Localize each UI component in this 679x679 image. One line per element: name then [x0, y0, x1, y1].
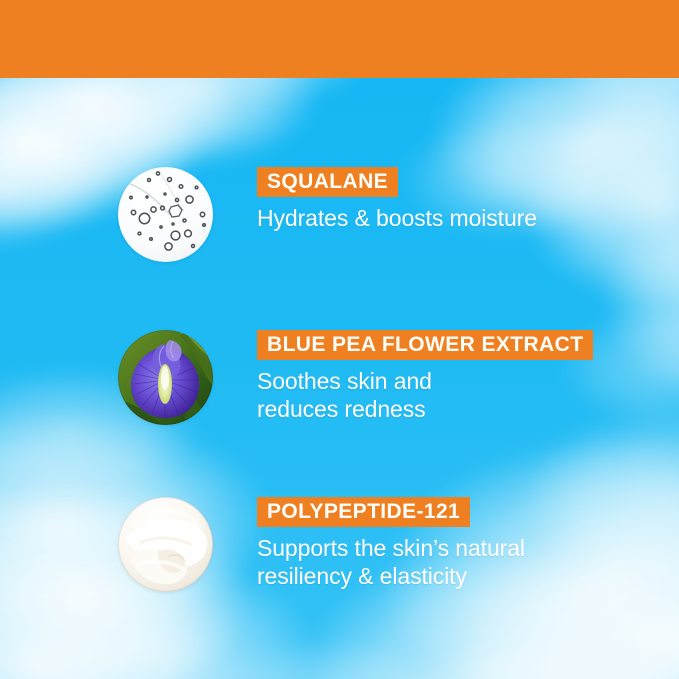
- clear-gel-bubbles-swatch: [118, 167, 213, 262]
- cloud-shape: [520, 408, 679, 588]
- cloud-shape: [560, 78, 679, 158]
- ingredient-text: BLUE PEA FLOWER EXTRACT Soothes skin and…: [257, 330, 593, 423]
- ingredient-text: POLYPEPTIDE-121 Supports the skin’s natu…: [257, 497, 525, 590]
- ingredient-name-badge: POLYPEPTIDE-121: [257, 497, 470, 527]
- cloud-shape: [60, 78, 320, 168]
- ingredient-description: Supports the skin’s natural resiliency &…: [257, 534, 525, 590]
- ingredient-name-badge: SQUALANE: [257, 167, 398, 197]
- white-cream-swirl-swatch: [118, 497, 213, 592]
- blue-pea-flower-photo: [118, 330, 213, 425]
- ingredient-name-badge: BLUE PEA FLOWER EXTRACT: [257, 330, 593, 360]
- key-ingredients-infographic: Key Ingredients: [0, 0, 679, 679]
- header-band: [0, 0, 679, 78]
- cloud-shape: [520, 98, 679, 308]
- cloud-shape: [0, 118, 120, 248]
- cloud-shape: [140, 78, 380, 108]
- cloud-shape: [360, 638, 679, 679]
- ingredient-text: SQUALANE Hydrates & boosts moisture: [257, 167, 537, 232]
- ingredient-description: Hydrates & boosts moisture: [257, 204, 537, 232]
- cloud-shape: [180, 638, 480, 679]
- cloud-shape: [600, 198, 679, 398]
- ingredient-description: Soothes skin and reduces redness: [257, 367, 593, 423]
